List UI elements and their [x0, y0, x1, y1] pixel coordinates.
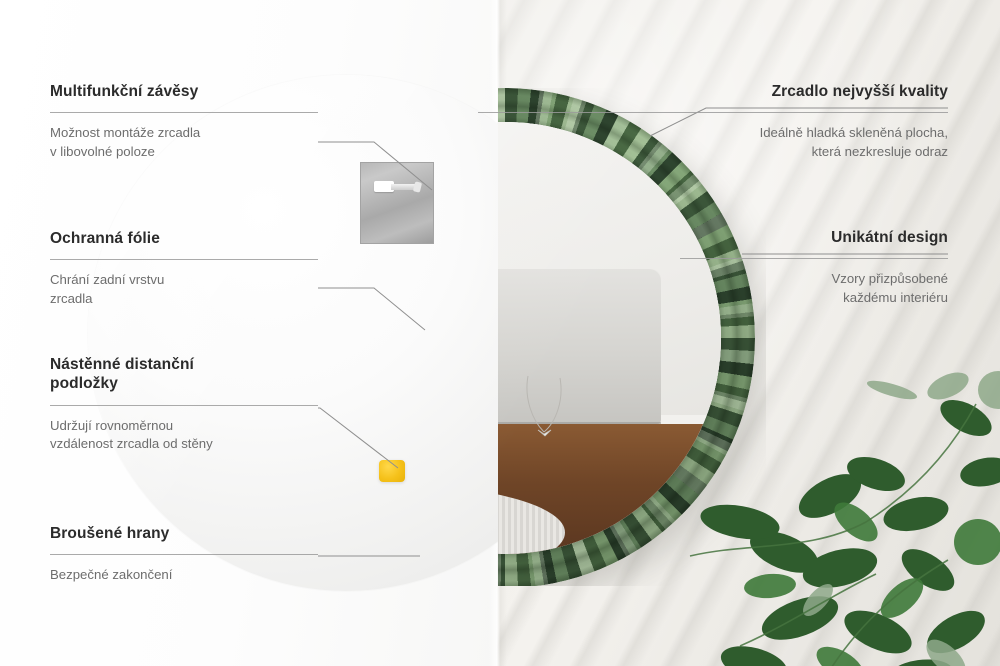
callout-title: Nástěnné distanční podložky: [50, 355, 318, 394]
callout-title-line2: podložky: [50, 375, 118, 392]
callout-title: Zrcadlo nejvyšší kvality: [478, 82, 948, 101]
callout-zrcadlo-nejvyssi-kvality: Zrcadlo nejvyšší kvality Ideálně hladká …: [478, 82, 948, 162]
infographic-canvas: Multifunkční závěsy Možnost montáže zrca…: [0, 0, 1000, 666]
callout-desc-line1: Ideálně hladká skleněná plocha,: [760, 125, 948, 140]
callout-desc-line2: v libovolné poloze: [50, 144, 155, 159]
callout-title: Unikátní design: [680, 228, 948, 247]
callout-description: Ideálně hladká skleněná plocha, která ne…: [478, 124, 948, 161]
reflection-decor-branch-icon: [522, 372, 568, 442]
callout-desc-line1: Možnost montáže zrcadla: [50, 125, 200, 140]
spacer-pad-icon: [379, 460, 405, 482]
callout-rule: [680, 258, 948, 259]
hanger-tail: [413, 181, 422, 192]
callout-desc-line2: zrcadla: [50, 291, 93, 306]
callout-desc-line2: vzdálenost zrcadla od stěny: [50, 436, 213, 451]
callout-description: Chrání zadní vrstvu zrcadla: [50, 271, 318, 308]
callout-description: Vzory přizpůsobené každému interiéru: [680, 270, 948, 307]
callout-title: Ochranná fólie: [50, 229, 318, 248]
mirror-glass-surface: [498, 122, 721, 554]
callout-desc-line1: Chrání zadní vrstvu: [50, 272, 164, 287]
callout-nastenne-distancni-podlozky: Nástěnné distanční podložky Udržují rovn…: [50, 355, 318, 454]
mirror-body: [498, 88, 755, 586]
callout-desc-line1: Bezpečné zakončení: [50, 567, 172, 582]
callout-rule: [50, 554, 318, 555]
callout-description: Možnost montáže zrcadla v libovolné polo…: [50, 124, 318, 161]
callout-rule: [50, 259, 318, 260]
callout-rule: [478, 112, 948, 113]
callout-rule: [50, 112, 318, 113]
callout-unikatni-design: Unikátní design Vzory přizpůsobené každé…: [680, 228, 948, 308]
callout-title: Broušené hrany: [50, 524, 318, 543]
hanger-icon: [374, 181, 420, 193]
callout-ochranna-folie: Ochranná fólie Chrání zadní vrstvu zrcad…: [50, 229, 318, 309]
callout-description: Bezpečné zakončení: [50, 566, 318, 585]
callout-title-line1: Nástěnné distanční: [50, 356, 194, 373]
callout-rule: [50, 405, 318, 406]
hanger-plate: [360, 162, 434, 244]
callout-desc-line1: Vzory přizpůsobené: [831, 271, 948, 286]
callout-multifunkcni-zavesy: Multifunkční závěsy Možnost montáže zrca…: [50, 82, 318, 162]
callout-brousene-hrany: Broušené hrany Bezpečné zakončení: [50, 524, 318, 585]
round-mirror-leaf-print: [498, 88, 766, 586]
callout-desc-line2: každému interiéru: [843, 290, 948, 305]
callout-description: Udržují rovnoměrnou vzdálenost zrcadla o…: [50, 417, 318, 454]
callout-desc-line1: Udržují rovnoměrnou: [50, 418, 173, 433]
callout-desc-line2: která nezkresluje odraz: [812, 144, 948, 159]
callout-title: Multifunkční závěsy: [50, 82, 318, 101]
